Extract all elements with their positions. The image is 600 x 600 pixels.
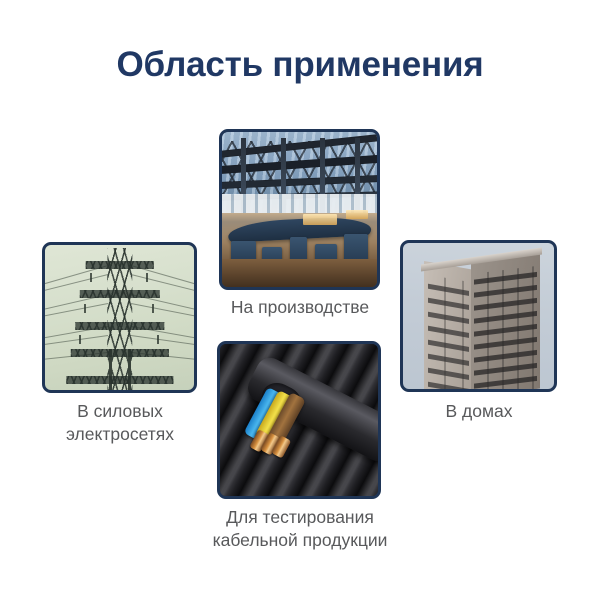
factory-floor xyxy=(222,259,377,287)
building-facade-left xyxy=(424,261,472,389)
building-facade-right xyxy=(471,255,540,389)
pylon-crossarm xyxy=(79,290,159,298)
factory-photo-content xyxy=(222,132,377,287)
power-line xyxy=(45,294,108,318)
pylon-crossarm xyxy=(75,322,164,330)
pylon-crossarm xyxy=(85,261,154,269)
pylon-insulator xyxy=(152,304,154,313)
caption-production: На производстве xyxy=(180,296,420,319)
pylon-crossarm xyxy=(66,376,173,384)
building-photo-content xyxy=(403,243,554,389)
card-power-grid[interactable] xyxy=(42,242,197,393)
page-title: Область применения xyxy=(0,44,600,86)
building-windows-right xyxy=(474,266,537,389)
power-line xyxy=(131,294,194,318)
card-homes[interactable] xyxy=(400,240,557,392)
electrical-cables-photo xyxy=(217,341,381,499)
factory-lighting xyxy=(346,210,368,219)
apartment-building-photo xyxy=(400,240,557,392)
pylon-insulator xyxy=(146,273,148,282)
power-transmission-tower-photo xyxy=(42,242,197,393)
cables-photo-content xyxy=(220,344,378,496)
factory-interior-photo xyxy=(219,129,380,290)
pylon-photo-content xyxy=(45,245,194,390)
factory-lighting xyxy=(303,214,337,225)
caption-cables: Для тестирования кабельной продукции xyxy=(160,506,440,552)
building-windows-left xyxy=(428,275,470,389)
card-production[interactable] xyxy=(219,129,380,290)
card-cables[interactable] xyxy=(217,341,381,499)
caption-power-grid: В силовых электросетях xyxy=(20,400,220,446)
caption-homes: В домах xyxy=(398,400,560,423)
pylon-insulator xyxy=(157,335,159,344)
pylon-insulator xyxy=(79,335,81,344)
pylon-insulator xyxy=(90,273,92,282)
pylon-crossarm xyxy=(70,349,168,357)
pylon-insulator xyxy=(84,304,86,313)
